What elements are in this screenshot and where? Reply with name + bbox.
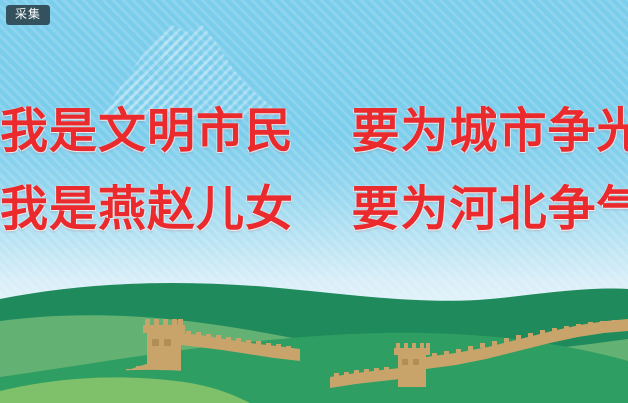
slogan-line-2-left: 我是燕赵儿女 <box>0 181 294 237</box>
slogan-line-1: 我是文明市民 要为城市争光 <box>0 92 628 170</box>
slogan-line-2-right: 要为河北争气 <box>351 181 628 237</box>
green-hills-landscape <box>0 273 628 403</box>
slogan-line-1-right: 要为城市争光 <box>351 103 628 159</box>
slogan-text-block: 我是文明市民 要为城市争光 我是燕赵儿女 要为河北争气 <box>0 92 628 248</box>
slogan-line-2: 我是燕赵儿女 要为河北争气 <box>0 170 628 248</box>
slogan-banner: 采集 我是文明市民 要为城市争光 我是燕赵儿女 要为河北争气 <box>0 0 628 403</box>
capture-button[interactable]: 采集 <box>6 5 50 25</box>
slogan-line-1-left: 我是文明市民 <box>0 103 294 159</box>
